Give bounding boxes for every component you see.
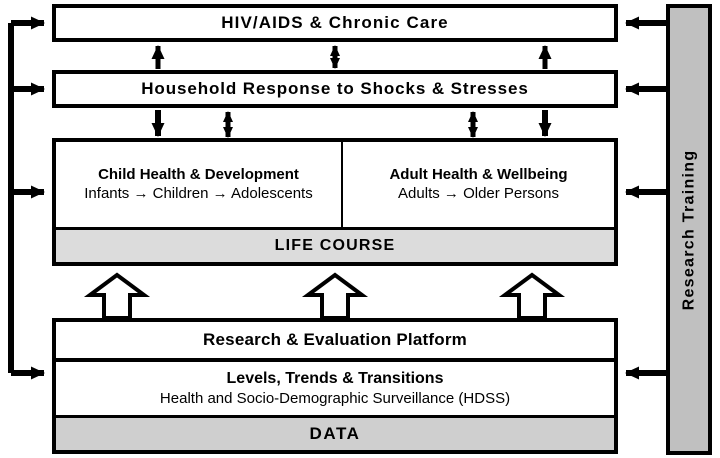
adult-health-subtitle: Adults → Older Persons <box>398 185 559 204</box>
data-band-label: DATA <box>309 424 360 444</box>
child-health-heading: Child Health & Development <box>98 166 299 184</box>
household-lifecourse-connectors <box>158 110 545 137</box>
hiv-household-connectors <box>158 46 545 69</box>
hdss-subtitle: Health and Socio-Demographic Surveillanc… <box>160 390 510 409</box>
data-supply-hollow-arrows <box>90 275 559 318</box>
research-training-input-arrows <box>626 23 666 373</box>
data-supply-hollow-arrow-3 <box>505 275 559 318</box>
life-course-columns: Child Health & Development Infants → Chi… <box>56 142 614 227</box>
research-training-label: Research Training <box>680 149 698 310</box>
child-health-cell: Child Health & Development Infants → Chi… <box>56 142 343 227</box>
household-response-label: Household Response to Shocks & Stresses <box>141 79 528 99</box>
child-health-subtitle: Infants → Children → Adolescents <box>84 185 312 204</box>
platform-body-row: Levels, Trends & Transitions Health and … <box>56 362 614 415</box>
research-evaluation-platform-group: Research & Evaluation Platform Levels, T… <box>52 318 618 454</box>
left-feedback-trunk <box>11 23 44 373</box>
life-course-band: LIFE COURSE <box>56 227 614 262</box>
hiv-aids-chronic-care-box: HIV/AIDS & Chronic Care <box>52 4 618 42</box>
levels-trends-transitions-heading: Levels, Trends & Transitions <box>227 369 444 388</box>
adult-health-heading: Adult Health & Wellbeing <box>389 166 567 184</box>
life-course-band-label: LIFE COURSE <box>275 237 396 255</box>
platform-header-label: Research & Evaluation Platform <box>203 330 467 350</box>
data-supply-hollow-arrow-2 <box>308 275 362 318</box>
hiv-aids-chronic-care-label: HIV/AIDS & Chronic Care <box>221 13 448 33</box>
diagram-canvas: HIV/AIDS & Chronic Care Household Respon… <box>0 0 720 458</box>
platform-header-row: Research & Evaluation Platform <box>56 322 614 362</box>
life-course-group: Child Health & Development Infants → Chi… <box>52 138 618 266</box>
adult-health-cell: Adult Health & Wellbeing Adults → Older … <box>343 142 614 227</box>
household-response-box: Household Response to Shocks & Stresses <box>52 70 618 108</box>
research-training-bar: Research Training <box>666 4 712 455</box>
data-band: DATA <box>56 415 614 450</box>
data-supply-hollow-arrow-1 <box>90 275 144 318</box>
